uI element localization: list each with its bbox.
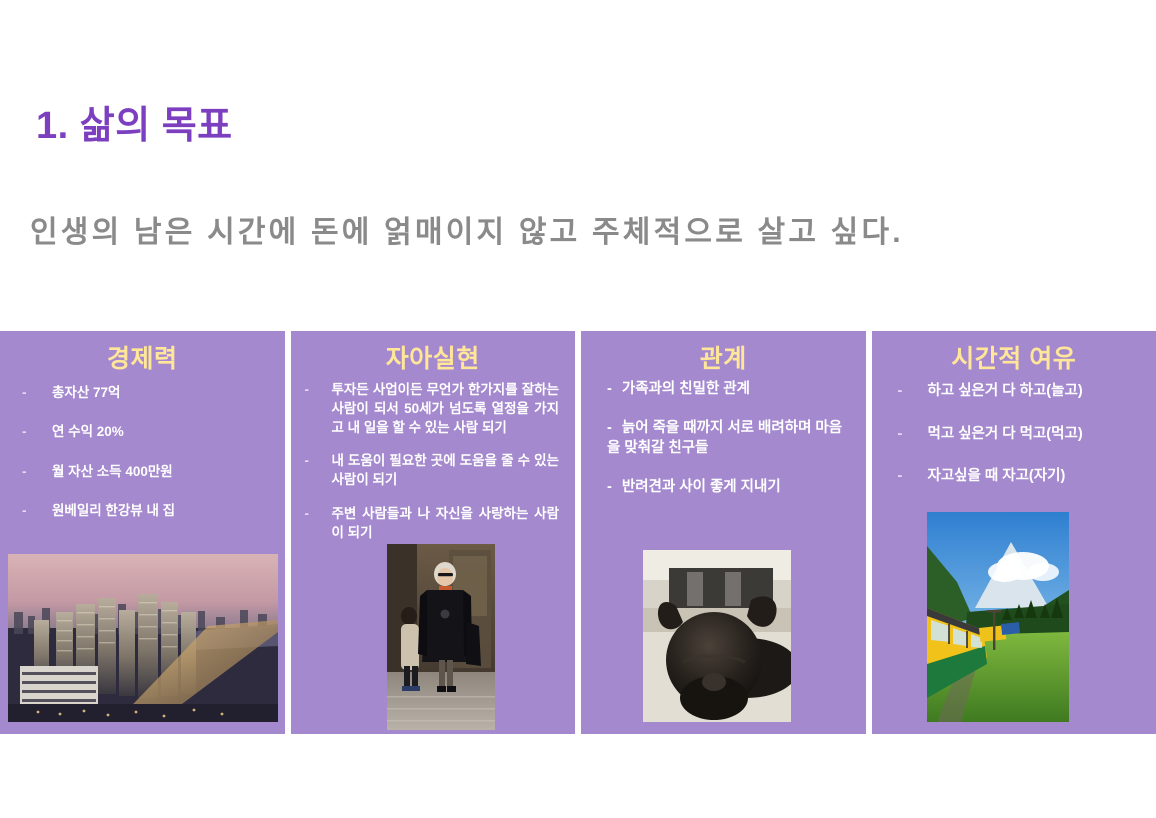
bullet-list-free-time: - 하고 싶은거 다 하고(놀고) - 먹고 싶은거 다 먹고(먹고) - 자고… — [872, 382, 1156, 487]
bullet-dash: - — [898, 425, 928, 444]
bullet-text: 가족과의 친밀한 관계 — [622, 381, 750, 397]
goal-panel-economy: 경제력 - 총자산 77억 - 연 수익 20% - 월 자산 소득 400만원… — [0, 331, 285, 734]
list-item: - 반려견과 사이 좋게 지내기 — [607, 478, 852, 498]
goal-panel-self-actualization: 자아실현 - 투자든 사업이든 무언가 한가지를 잘하는 사람이 되서 50세가… — [291, 331, 576, 734]
woman-illustration — [387, 544, 495, 730]
list-item: - 먹고 싶은거 다 먹고(먹고) — [898, 425, 1145, 444]
list-item: - 자고싶을 때 자고(자기) — [898, 467, 1145, 486]
panel-heading-self-actualization: 자아실현 — [291, 345, 576, 374]
photo-mountain-train — [927, 512, 1069, 722]
list-item: - 총자산 77억 — [22, 384, 271, 402]
bullet-dash: - — [22, 423, 52, 441]
bullet-list-economy: - 총자산 77억 - 연 수익 20% - 월 자산 소득 400만원 - 원… — [0, 384, 285, 520]
panel-heading-relationships: 관계 — [581, 345, 866, 374]
bullet-dash: - — [607, 479, 612, 495]
panel-heading-free-time: 시간적 여유 — [872, 345, 1156, 374]
list-item: - 주변 사람들과 나 자신을 사랑하는 사람이 되기 — [305, 504, 560, 542]
dog-illustration — [643, 550, 791, 722]
bullet-text: 반려견과 사이 좋게 지내기 — [622, 479, 781, 495]
list-item: - 연 수익 20% — [22, 423, 271, 441]
list-item: - 원베일리 한강뷰 내 집 — [22, 502, 271, 520]
goal-panel-free-time: 시간적 여유 - 하고 싶은거 다 하고(놀고) - 먹고 싶은거 다 먹고(먹… — [872, 331, 1156, 734]
bullet-list-self-actualization: - 투자든 사업이든 무언가 한가지를 잘하는 사람이 되서 50세가 넘도록 … — [291, 380, 576, 542]
bullet-dash: - — [607, 381, 612, 397]
list-item: - 투자든 사업이든 무언가 한가지를 잘하는 사람이 되서 50세가 넘도록 … — [305, 380, 560, 437]
bullet-dash: - — [305, 504, 332, 542]
bullet-text: 내 도움이 필요한 곳에 도움을 줄 수 있는 사람이 되기 — [332, 451, 560, 489]
bullet-dash: - — [898, 467, 928, 486]
bullet-text: 하고 싶은거 다 하고(놀고) — [928, 382, 1145, 401]
cityscape-illustration — [8, 554, 278, 722]
bullet-text: 투자든 사업이든 무언가 한가지를 잘하는 사람이 되서 50세가 넘도록 열정… — [332, 380, 560, 437]
bullet-dash: - — [22, 502, 52, 520]
photo-woman-in-black — [387, 544, 495, 730]
bullet-dash: - — [22, 384, 52, 402]
slide-canvas: 1. 삶의 목표 인생의 남은 시간에 돈에 얽매이지 않고 주체적으로 살고 … — [0, 0, 1156, 818]
photo-cityscape — [8, 554, 278, 722]
list-item: - 가족과의 친밀한 관계 — [607, 380, 852, 400]
bullet-text: 월 자산 소득 400만원 — [52, 463, 271, 481]
bullet-text: 원베일리 한강뷰 내 집 — [52, 502, 271, 520]
bullet-text: 자고싶을 때 자고(자기) — [928, 467, 1145, 486]
bullet-text: 주변 사람들과 나 자신을 사랑하는 사람이 되기 — [332, 504, 560, 542]
bullet-dash: - — [305, 451, 332, 489]
list-item: - 하고 싶은거 다 하고(놀고) — [898, 382, 1145, 401]
panel-heading-economy: 경제력 — [0, 345, 285, 374]
list-item: - 내 도움이 필요한 곳에 도움을 줄 수 있는 사람이 되기 — [305, 451, 560, 489]
bullet-dash: - — [607, 420, 612, 436]
bullet-list-relationships: - 가족과의 친밀한 관계 - 늙어 죽을 때까지 서로 배려하며 마음을 맞춰… — [581, 380, 866, 498]
photo-dog — [643, 550, 791, 722]
page-title: 1. 삶의 목표 — [36, 104, 233, 150]
bullet-text: 총자산 77억 — [52, 384, 271, 402]
bullet-text: 연 수익 20% — [52, 423, 271, 441]
slide-subtitle: 인생의 남은 시간에 돈에 얽매이지 않고 주체적으로 살고 싶다. — [30, 214, 1140, 252]
mountain-train-illustration — [927, 512, 1069, 722]
list-item: - 월 자산 소득 400만원 — [22, 463, 271, 481]
list-item: - 늙어 죽을 때까지 서로 배려하며 마음을 맞춰갈 친구들 — [607, 419, 852, 458]
bullet-dash: - — [22, 463, 52, 481]
bullet-dash: - — [898, 382, 928, 401]
goal-columns: 경제력 - 총자산 77억 - 연 수익 20% - 월 자산 소득 400만원… — [0, 331, 1156, 734]
bullet-text: 먹고 싶은거 다 먹고(먹고) — [928, 425, 1145, 444]
goal-panel-relationships: 관계 - 가족과의 친밀한 관계 - 늙어 죽을 때까지 서로 배려하며 마음을… — [581, 331, 866, 734]
bullet-dash: - — [305, 380, 332, 437]
bullet-text: 늙어 죽을 때까지 서로 배려하며 마음을 맞춰갈 친구들 — [607, 420, 842, 456]
